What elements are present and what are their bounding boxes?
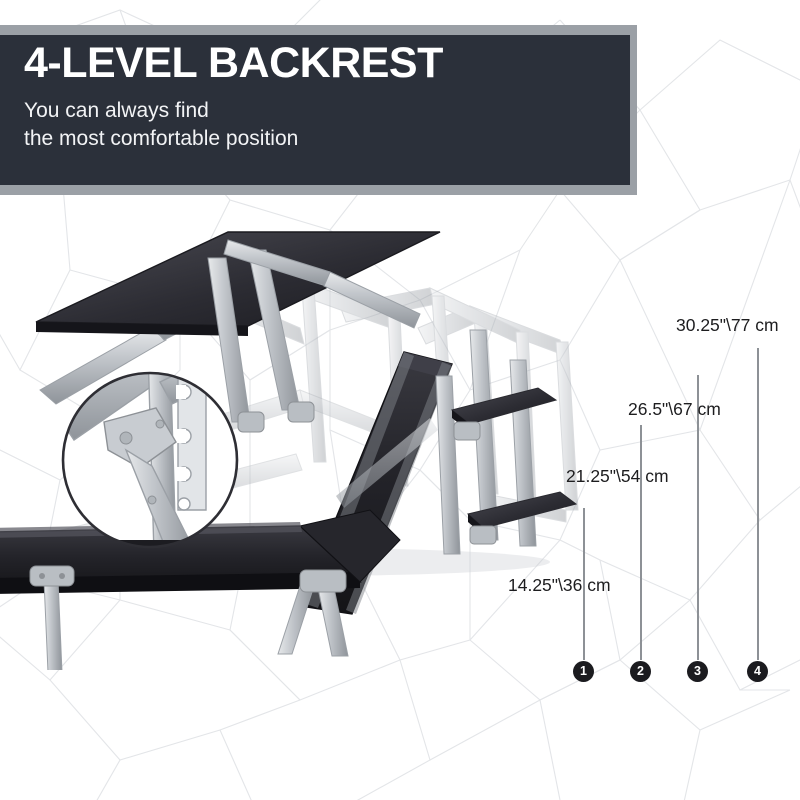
infographic-canvas: 14.25"\36 cm 21.25"\54 cm 26.5"\67 cm 30… [0, 0, 800, 800]
measure-label-2: 21.25"\54 cm [566, 466, 669, 487]
banner-subtitle: You can always find the most comfortable… [24, 97, 298, 152]
measure-label-3: 26.5"\67 cm [628, 399, 721, 420]
banner-subtitle-line-2: the most comfortable position [24, 125, 298, 153]
measure-badge-3: 3 [687, 661, 708, 682]
measure-badge-1: 1 [573, 661, 594, 682]
page-title: 4-LEVEL BACKREST [24, 42, 443, 85]
measure-label-4: 30.25"\77 cm [676, 315, 779, 336]
measure-badge-2: 2 [630, 661, 651, 682]
measure-line-4 [757, 348, 759, 660]
measure-label-1: 14.25"\36 cm [508, 575, 611, 596]
measure-badge-4: 4 [747, 661, 768, 682]
banner-subtitle-line-1: You can always find [24, 97, 298, 125]
product-illustration [0, 210, 640, 670]
measure-line-2 [640, 425, 642, 660]
